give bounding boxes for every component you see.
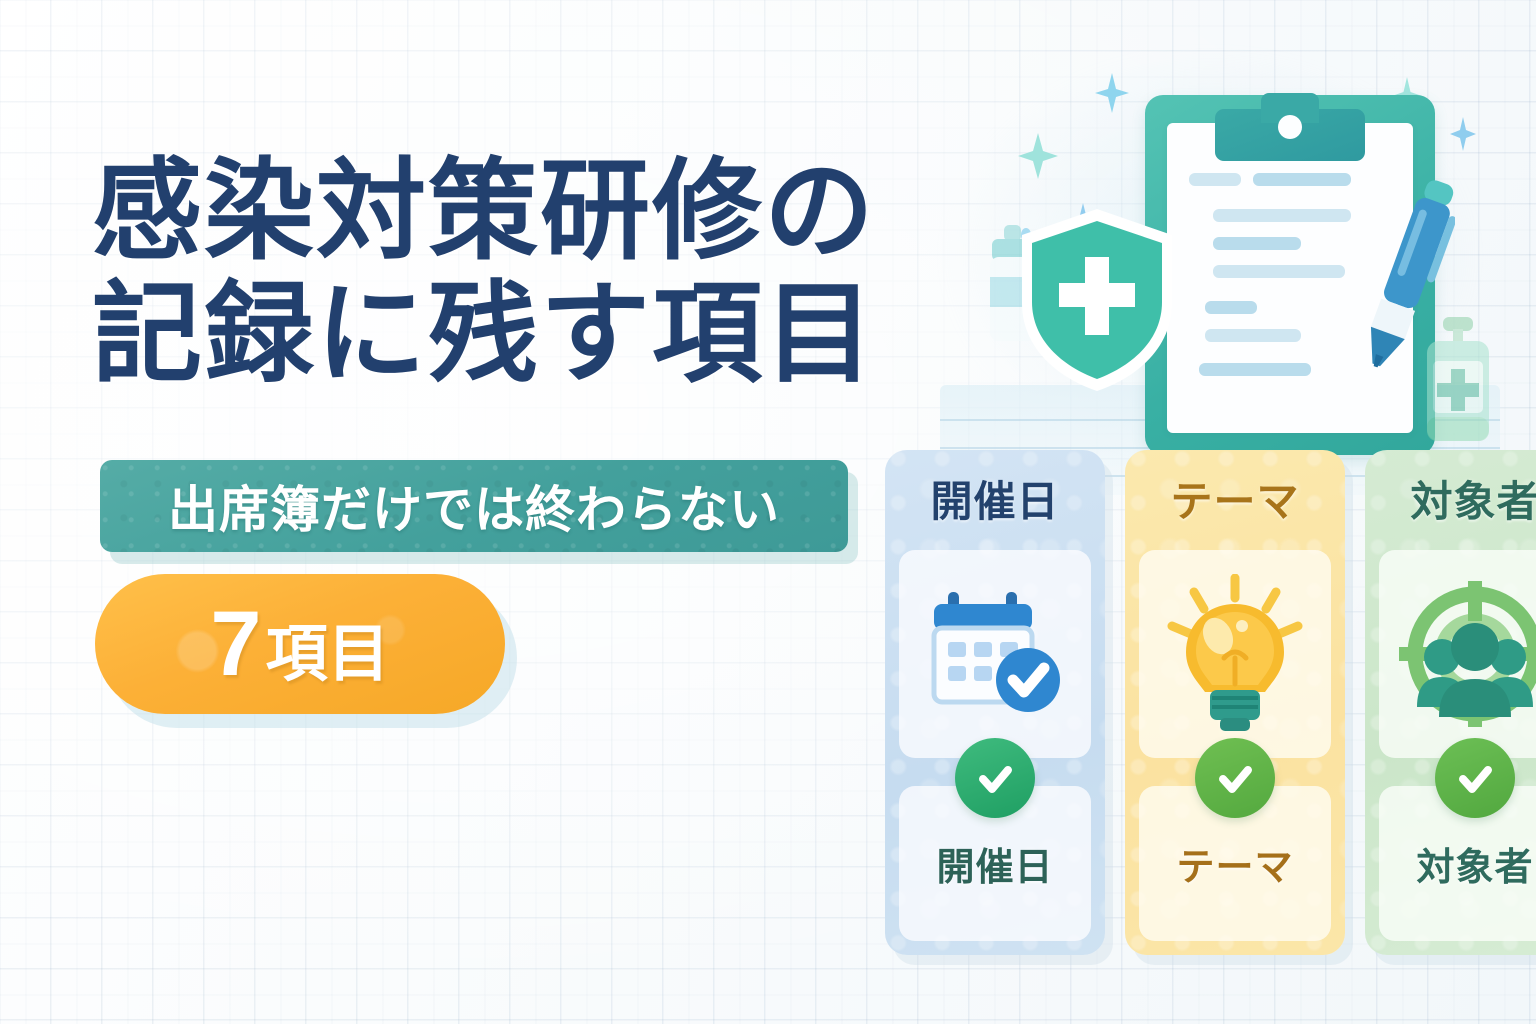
target-people-icon (1365, 558, 1536, 750)
shield-cross-icon (1012, 205, 1182, 395)
count-badge: 7 項目 (95, 574, 505, 714)
card-label: 開催日 (936, 836, 1053, 891)
feature-cards: 開催日 (885, 450, 1536, 958)
subtitle-text: 出席簿だけでは終わらない (168, 470, 780, 542)
sparkle-icon (1450, 117, 1476, 151)
check-icon (1195, 738, 1275, 818)
card-label: 対象者 (1416, 836, 1533, 891)
card-header-title: 対象者 (1365, 450, 1536, 546)
card-target-audience[interactable]: 対象者 (1365, 450, 1536, 955)
sparkle-icon (1018, 133, 1058, 179)
card-theme[interactable]: テーマ (1125, 450, 1345, 955)
title-line-1: 感染対策研修の (92, 150, 876, 273)
sparkle-icon (1095, 73, 1129, 113)
count-unit: 項目 (266, 624, 390, 686)
card-header-title: テーマ (1125, 450, 1345, 546)
calendar-icon (885, 558, 1105, 750)
lightbulb-icon (1125, 558, 1345, 750)
title-line-2: 記録に残す項目 (92, 273, 922, 396)
poster-canvas: 感染対策研修の 記録に残す項目 出席簿だけでは終わらない 7 項目 (0, 0, 1536, 1024)
card-header-title: 開催日 (885, 450, 1105, 546)
check-icon (1435, 738, 1515, 818)
check-icon (955, 738, 1035, 818)
clipboard-clip (1215, 109, 1365, 161)
subtitle-banner: 出席簿だけでは終わらない (100, 460, 848, 552)
count-badge-text: 7 項目 (210, 598, 389, 690)
page-title: 感染対策研修の 記録に残す項目 (92, 150, 922, 396)
hero-illustration (960, 55, 1536, 475)
card-label: テーマ (1176, 836, 1293, 891)
medicine-vial-icon (1415, 317, 1500, 447)
card-kaisaibi[interactable]: 開催日 (885, 450, 1105, 955)
count-number: 7 (210, 598, 261, 690)
